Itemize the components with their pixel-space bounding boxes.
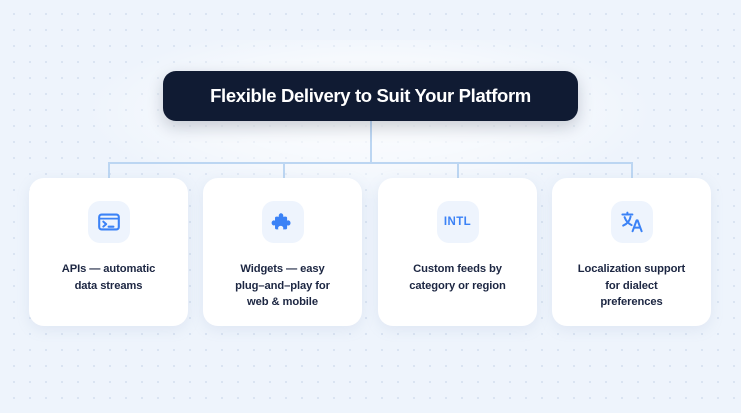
feature-card-localization[interactable]: Localization support for dialect prefere…: [552, 178, 711, 326]
translate-icon: [620, 210, 644, 234]
connector-horizontal-bus: [108, 162, 633, 164]
feature-card-apis[interactable]: APIs — automatic data streams: [29, 178, 188, 326]
feature-card-widgets[interactable]: Widgets — easy plug–and–play for web & m…: [203, 178, 362, 326]
feature-card-label: APIs — automatic data streams: [50, 261, 168, 294]
feature-card-label: Custom feeds by category or region: [397, 261, 517, 294]
diagram-canvas: Flexible Delivery to Suit Your Platform …: [0, 0, 741, 413]
page-title: Flexible Delivery to Suit Your Platform: [210, 85, 531, 107]
connector-trunk-line: [370, 121, 372, 164]
icon-tile: INTL: [437, 201, 479, 243]
puzzle-piece-icon: [271, 211, 294, 234]
feature-card-custom-feeds[interactable]: INTL Custom feeds by category or region: [378, 178, 537, 326]
terminal-icon: [97, 210, 121, 234]
feature-card-label: Widgets — easy plug–and–play for web & m…: [223, 261, 342, 311]
feature-card-label: Localization support for dialect prefere…: [566, 261, 697, 311]
icon-tile: [611, 201, 653, 243]
intl-badge-icon: INTL: [444, 216, 471, 228]
icon-tile: [262, 201, 304, 243]
header-pill: Flexible Delivery to Suit Your Platform: [163, 71, 578, 121]
icon-tile: [88, 201, 130, 243]
